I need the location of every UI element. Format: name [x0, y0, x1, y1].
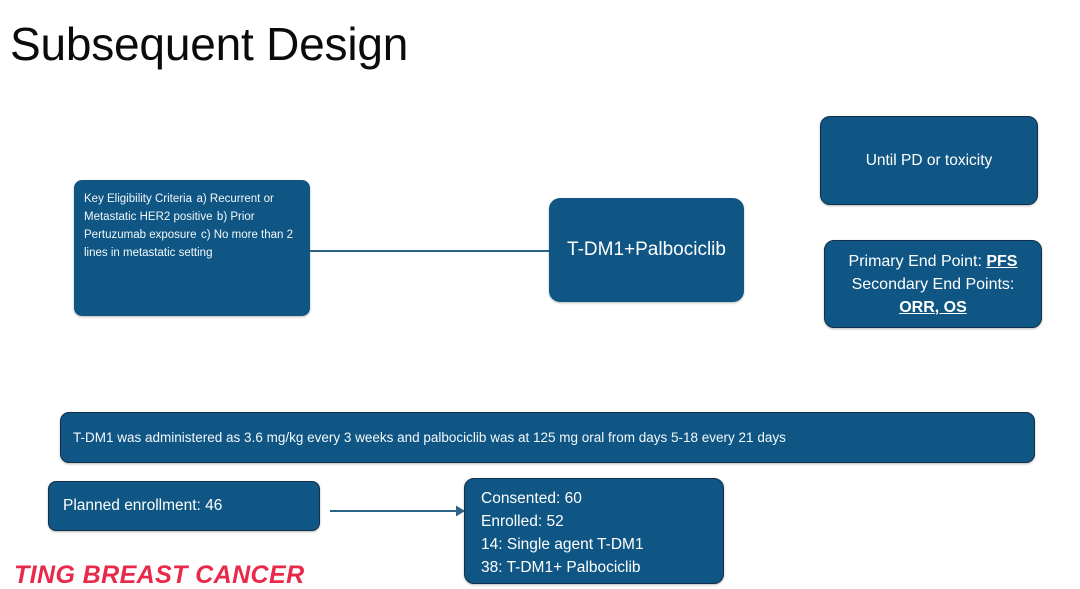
eligibility-criteria-box: Key Eligibility Criteria a) Recurrent or…	[74, 180, 310, 316]
treatment-arm-box: T-DM1+Palbociclib	[549, 198, 744, 302]
treatment-arm-label: T-DM1+Palbociclib	[567, 238, 726, 262]
secondary-endpoint-line: ORR, OS	[899, 296, 967, 319]
connector-planned-to-accrual	[330, 504, 465, 518]
accrual-enrolled: Enrolled: 52	[481, 510, 723, 533]
accrual-single-agent: 14: Single agent T-DM1	[481, 533, 723, 556]
arrow-right-icon	[330, 504, 465, 518]
dosing-text: T-DM1 was administered as 3.6 mg/kg ever…	[73, 429, 786, 447]
planned-enrollment-box: Planned enrollment: 46	[48, 481, 320, 531]
accrual-consented: Consented: 60	[481, 487, 723, 510]
secondary-endpoint-value: ORR, OS	[899, 299, 967, 316]
accrual-results-box: Consented: 60 Enrolled: 52 14: Single ag…	[464, 478, 724, 584]
dosing-banner: T-DM1 was administered as 3.6 mg/kg ever…	[60, 412, 1035, 463]
endpoints-box: Primary End Point: PFS Secondary End Poi…	[824, 240, 1042, 328]
connector-eligibility-to-treatment	[310, 250, 550, 252]
primary-endpoint-line: Primary End Point: PFS	[849, 250, 1018, 273]
page-title: Subsequent Design	[10, 16, 408, 72]
primary-endpoint-prefix: Primary End Point:	[849, 253, 987, 270]
secondary-endpoint-prefix: Secondary End Points:	[852, 273, 1015, 296]
treatment-duration-label: Until PD or toxicity	[866, 151, 993, 171]
slide-canvas: Subsequent Design Key Eligibility Criter…	[0, 0, 1080, 576]
planned-enrollment-label: Planned enrollment: 46	[63, 496, 222, 516]
treatment-duration-box: Until PD or toxicity	[820, 116, 1038, 205]
primary-endpoint-value: PFS	[986, 253, 1017, 270]
eligibility-heading: Key Eligibility Criteria	[84, 193, 192, 205]
footer-heading: TING BREAST CANCER	[14, 561, 305, 589]
